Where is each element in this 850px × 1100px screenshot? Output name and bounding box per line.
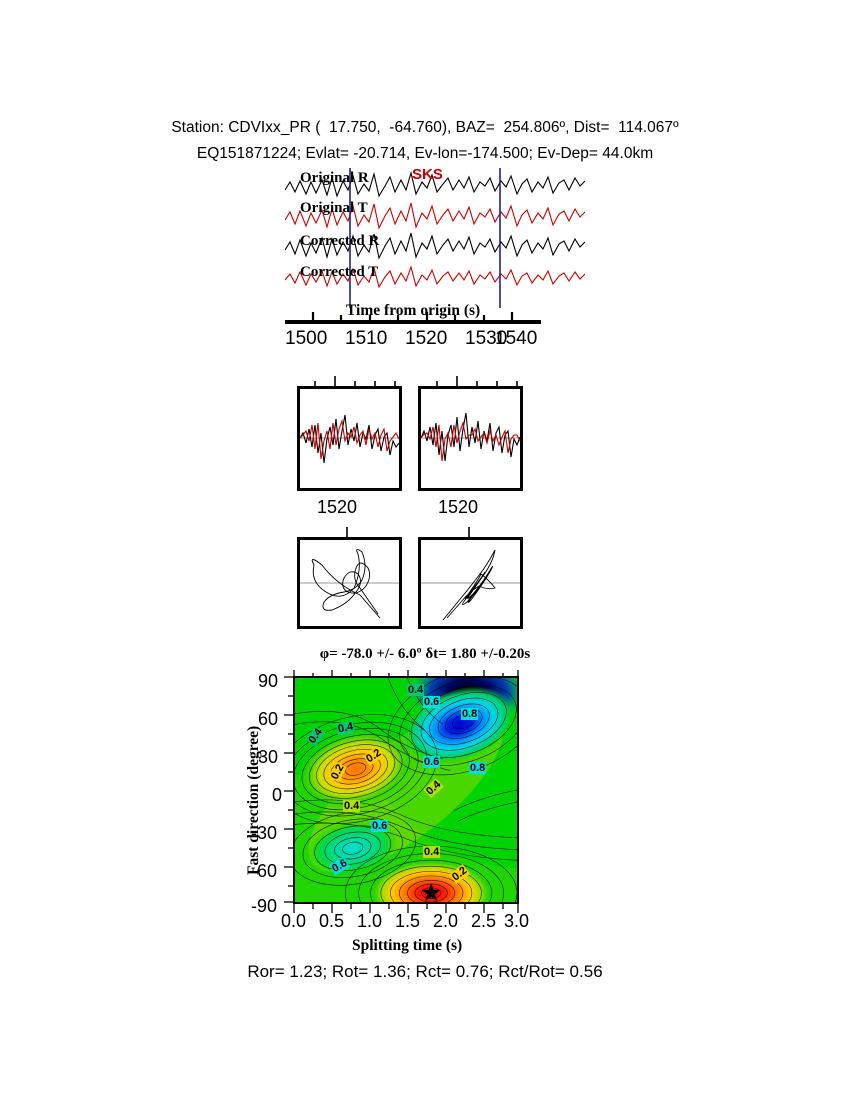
x-tick-2-0: 2.0 — [433, 911, 458, 932]
particle-motion-path-uncorrected — [312, 549, 380, 618]
time-tick-1540: 1540 — [495, 328, 537, 350]
y-tick-m30: -30 — [251, 823, 277, 844]
sks-splitting-figure: Station: CDVIxx_PR ( 17.750, -64.760), B… — [0, 0, 850, 1100]
x-tick-1-5: 1.5 — [395, 911, 420, 932]
splitting-parameters-title: φ= -78.0 +/- 6.0º δt= 1.80 +/-0.20s — [0, 646, 850, 663]
trace-label-corrected-t: Corrected T — [300, 264, 378, 281]
trace-label-original-t: Original T — [300, 200, 368, 217]
y-tick-m60: -60 — [251, 861, 277, 882]
quality-metrics-footer: Ror= 1.23; Rot= 1.36; Rct= 0.76; Rct/Rot… — [0, 962, 850, 982]
zoom-left-trace-black — [300, 415, 399, 463]
x-tick-0-5: 0.5 — [319, 911, 344, 932]
y-tick-30: 30 — [258, 747, 278, 768]
zoom-panel-right — [418, 386, 523, 491]
sks-phase-label: SKS — [412, 166, 443, 183]
x-tick-0-0: 0.0 — [281, 911, 306, 932]
contour-x-axis-label: Splitting time (s) — [352, 937, 462, 955]
trace-label-corrected-r: Corrected R — [300, 233, 379, 250]
y-tick-60: 60 — [258, 709, 278, 730]
time-axis-title: Time from origin (s) — [346, 302, 480, 320]
x-tick-2-5: 2.5 — [471, 911, 496, 932]
time-tick-1500: 1500 — [285, 328, 327, 350]
x-tick-1-0: 1.0 — [357, 911, 382, 932]
station-info-line: Station: CDVIxx_PR ( 17.750, -64.760), B… — [0, 119, 850, 137]
zoom-left-tick-label: 1520 — [317, 497, 357, 518]
error-surface-contour-plot: 0.4 0.6 0.8 0.4 0.4 0.6 0.8 0.2 0.2 0.4 … — [293, 676, 519, 904]
event-info-line: EQ151871224; Evlat= -20.714, Ev-lon=-174… — [0, 145, 850, 163]
hodogram-corrected — [418, 537, 523, 629]
time-tick-1520: 1520 — [405, 328, 447, 350]
zoom-right-tick-label: 1520 — [438, 497, 478, 518]
particle-motion-path-corrected — [443, 550, 495, 620]
zoom-right-trace-black — [421, 413, 520, 461]
trace-label-original-r: Original R — [300, 170, 369, 187]
y-tick-0: 0 — [272, 785, 282, 806]
zoom-panel-left — [297, 386, 402, 491]
zoom-right-trace-red — [421, 423, 520, 461]
y-tick-90: 90 — [258, 671, 278, 692]
time-tick-1510: 1510 — [345, 328, 387, 350]
hodogram-uncorrected — [297, 537, 402, 629]
y-tick-m90: -90 — [251, 896, 277, 917]
x-tick-3-0: 3.0 — [504, 911, 529, 932]
